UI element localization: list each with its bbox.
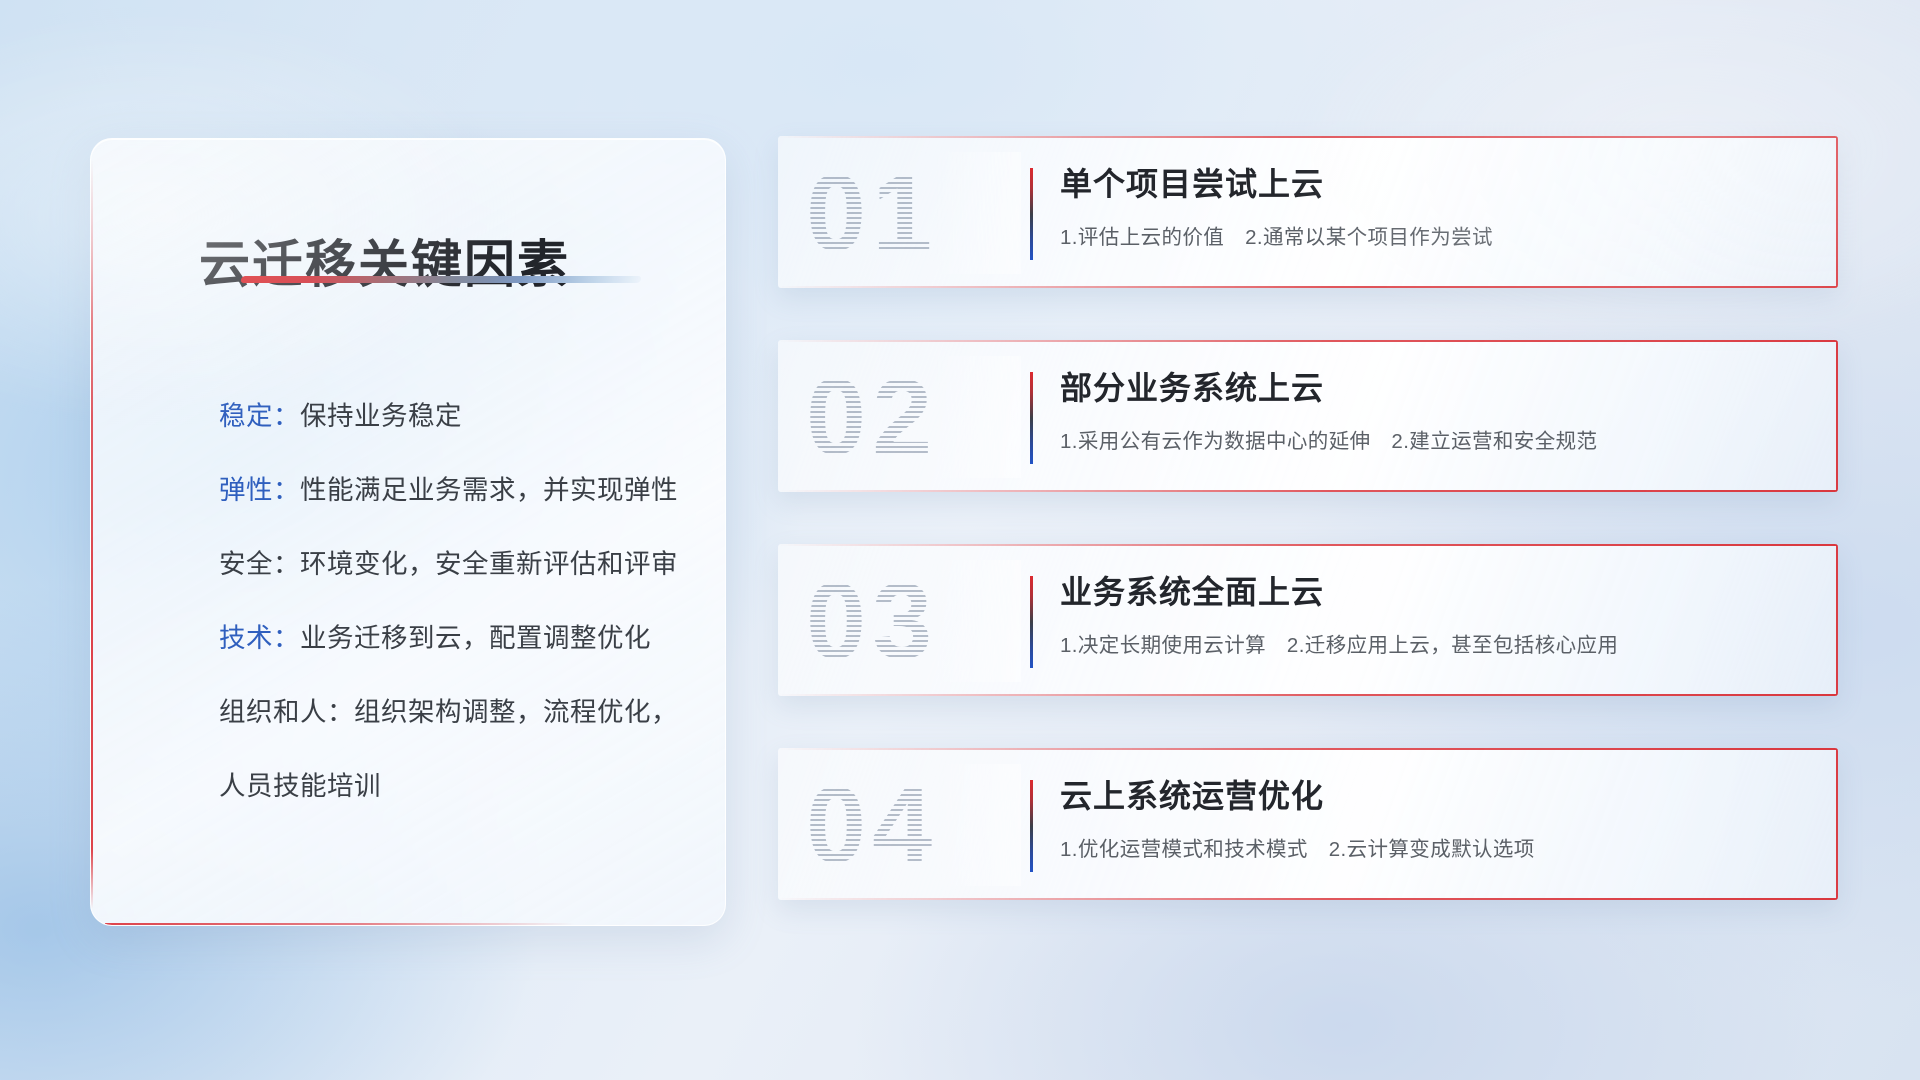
card-body: 云上系统运营优化 1.优化运营模式和技术模式 2.云计算变成默认选项 xyxy=(1060,774,1814,862)
factor-label: 技术： xyxy=(219,623,300,653)
card-top-border xyxy=(778,136,1838,138)
card-title: 单个项目尝试上云 xyxy=(1060,162,1814,206)
stage-number: 03 xyxy=(806,560,1021,682)
panel-left-accent-line xyxy=(91,159,93,909)
factor-item-organization: 组织和人：组织架构调整，流程优化， xyxy=(219,675,685,749)
factor-item-security: 安全：环境变化，安全重新评估和评审 xyxy=(219,527,685,601)
factor-text: 组织架构调整，流程优化， xyxy=(354,697,678,727)
stage-card-04[interactable]: 04 云上系统运营优化 1.优化运营模式和技术模式 2.云计算变成默认选项 xyxy=(778,748,1838,900)
stage-number: 04 xyxy=(806,764,1021,886)
card-right-border xyxy=(1836,748,1838,900)
card-right-border xyxy=(1836,544,1838,696)
factor-item-organization-continued: 人员技能培训 xyxy=(219,749,685,823)
card-bottom-border xyxy=(778,898,1838,900)
factor-item-elasticity: 弹性：性能满足业务需求，并实现弹性 xyxy=(219,453,685,527)
migration-stage-cards: 01 单个项目尝试上云 1.评估上云的价值 2.通常以某个项目作为尝试 02 部… xyxy=(778,136,1838,952)
page-title: 云迁移关键因素 xyxy=(199,223,570,297)
card-top-border xyxy=(778,544,1838,546)
panel-bottom-accent-line xyxy=(105,923,575,925)
card-body: 业务系统全面上云 1.决定长期使用云计算 2.迁移应用上云，甚至包括核心应用 xyxy=(1060,570,1814,658)
title-underline-gradient xyxy=(240,276,642,283)
factor-text: 性能满足业务需求，并实现弹性 xyxy=(300,475,678,505)
card-divider-bar xyxy=(1030,780,1033,872)
factor-text: 业务迁移到云，配置调整优化 xyxy=(300,623,651,653)
card-bottom-border xyxy=(778,286,1838,288)
stage-number: 02 xyxy=(806,356,1021,478)
card-title: 业务系统全面上云 xyxy=(1060,570,1814,614)
stage-number: 01 xyxy=(806,152,1021,274)
factor-text: 保持业务稳定 xyxy=(300,401,462,431)
factor-text: 环境变化，安全重新评估和评审 xyxy=(300,549,678,579)
factor-item-stability: 稳定：保持业务稳定 xyxy=(219,379,685,453)
card-body: 单个项目尝试上云 1.评估上云的价值 2.通常以某个项目作为尝试 xyxy=(1060,162,1814,250)
factor-label: 组织和人： xyxy=(219,697,354,727)
card-description: 1.优化运营模式和技术模式 2.云计算变成默认选项 xyxy=(1060,832,1814,862)
card-body: 部分业务系统上云 1.采用公有云作为数据中心的延伸 2.建立运营和安全规范 xyxy=(1060,366,1814,454)
card-top-border xyxy=(778,340,1838,342)
card-bottom-border xyxy=(778,490,1838,492)
card-divider-bar xyxy=(1030,168,1033,260)
card-description: 1.评估上云的价值 2.通常以某个项目作为尝试 xyxy=(1060,220,1814,250)
factor-item-technology: 技术：业务迁移到云，配置调整优化 xyxy=(219,601,685,675)
factor-label: 稳定： xyxy=(219,401,300,431)
card-top-border xyxy=(778,748,1838,750)
card-bottom-border xyxy=(778,694,1838,696)
factor-label: 安全： xyxy=(219,549,300,579)
factor-list: 稳定：保持业务稳定 弹性：性能满足业务需求，并实现弹性 安全：环境变化，安全重新… xyxy=(219,379,685,823)
key-factors-panel: 云迁移关键因素 稳定：保持业务稳定 弹性：性能满足业务需求，并实现弹性 安全：环… xyxy=(90,138,726,926)
card-right-border xyxy=(1836,136,1838,288)
card-title: 部分业务系统上云 xyxy=(1060,366,1814,410)
factor-text: 人员技能培训 xyxy=(219,771,381,801)
stage-card-02[interactable]: 02 部分业务系统上云 1.采用公有云作为数据中心的延伸 2.建立运营和安全规范 xyxy=(778,340,1838,492)
card-title: 云上系统运营优化 xyxy=(1060,774,1814,818)
slide-canvas: 云迁移关键因素 稳定：保持业务稳定 弹性：性能满足业务需求，并实现弹性 安全：环… xyxy=(0,0,1920,1080)
card-right-border xyxy=(1836,340,1838,492)
card-divider-bar xyxy=(1030,372,1033,464)
card-description: 1.采用公有云作为数据中心的延伸 2.建立运营和安全规范 xyxy=(1060,424,1814,454)
card-description: 1.决定长期使用云计算 2.迁移应用上云，甚至包括核心应用 xyxy=(1060,628,1814,658)
factor-label: 弹性： xyxy=(219,475,300,505)
stage-card-01[interactable]: 01 单个项目尝试上云 1.评估上云的价值 2.通常以某个项目作为尝试 xyxy=(778,136,1838,288)
card-divider-bar xyxy=(1030,576,1033,668)
stage-card-03[interactable]: 03 业务系统全面上云 1.决定长期使用云计算 2.迁移应用上云，甚至包括核心应… xyxy=(778,544,1838,696)
